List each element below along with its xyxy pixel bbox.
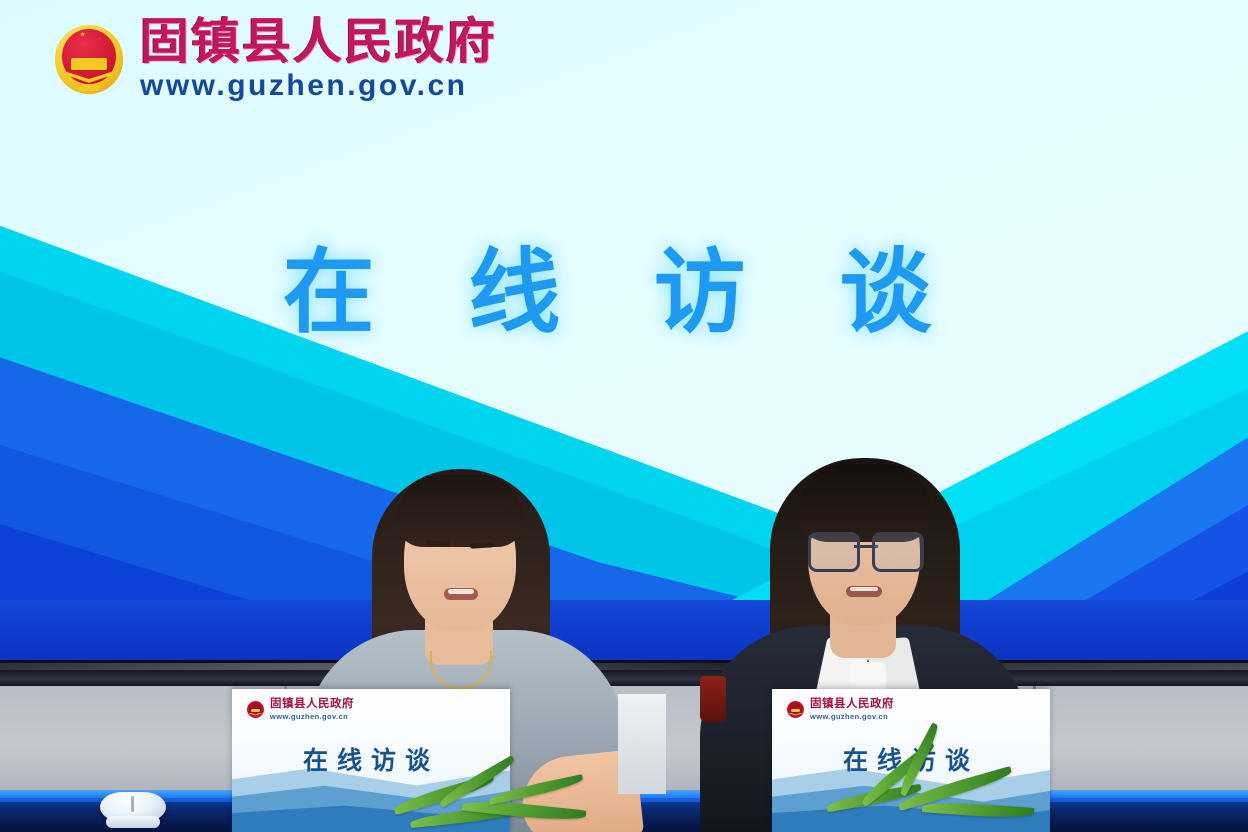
nameplate-website-url: www.guzhen.gov.cn <box>270 713 354 721</box>
china-national-emblem-icon <box>246 700 265 719</box>
china-national-emblem-icon: ★ <box>52 23 126 97</box>
mouth <box>444 588 478 600</box>
hair-bangs <box>798 464 932 542</box>
dark-red-cup[interactable] <box>700 676 726 722</box>
nameplate-logo: 固镇县人民政府 www.guzhen.gov.cn <box>786 699 894 720</box>
nameplate-org-name: 固镇县人民政府 <box>810 699 894 711</box>
eyeglasses-icon <box>808 532 924 566</box>
mouth <box>846 586 882 597</box>
logo-website-url: www.guzhen.gov.cn <box>140 71 497 101</box>
backdrop-main-title: 在 线 访 谈 <box>0 218 1248 351</box>
china-national-emblem-icon <box>786 700 805 719</box>
green-leaf-cluster-left <box>392 758 592 832</box>
center-white-panel <box>618 694 666 794</box>
logo-org-name: 固镇县人民政府 <box>140 18 497 67</box>
nameplate-org-name: 固镇县人民政府 <box>270 699 354 711</box>
broadcast-scene: ★ 固镇县人民政府 www.guzhen.gov.cn 在 线 访 谈 <box>0 0 1248 832</box>
nameplate-logo: 固镇县人民政府 www.guzhen.gov.cn <box>246 699 354 720</box>
government-logo: ★ 固镇县人民政府 www.guzhen.gov.cn <box>52 18 497 101</box>
wireless-mouse[interactable] <box>100 792 166 830</box>
hair-bangs <box>396 475 524 547</box>
nameplate-website-url: www.guzhen.gov.cn <box>810 713 894 721</box>
green-leaf-cluster-right <box>826 748 1036 832</box>
